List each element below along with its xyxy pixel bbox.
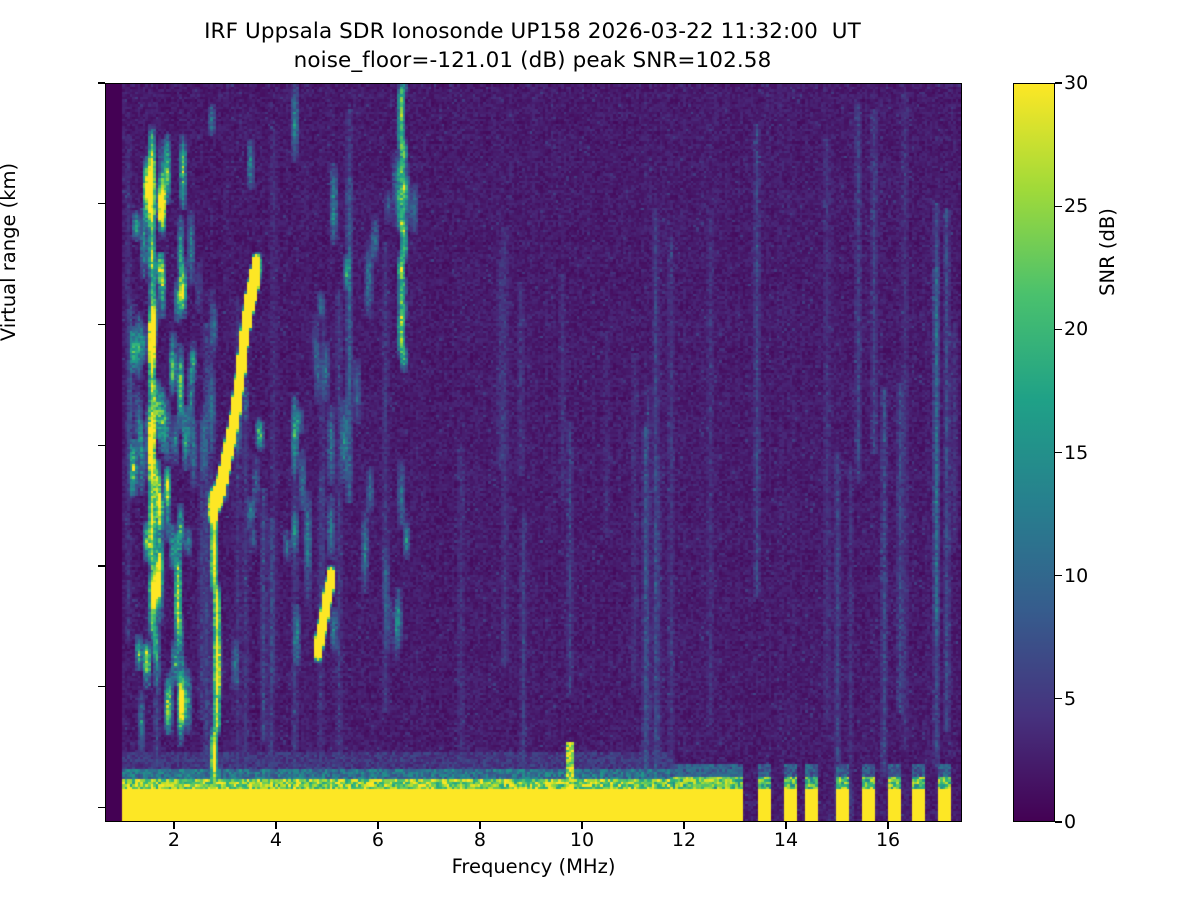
x-axis-tick-label: 6	[372, 829, 384, 851]
y-axis-tick-mark	[98, 807, 105, 808]
colorbar-label: SNR (dB)	[1096, 52, 1119, 452]
figure-title: IRF Uppsala SDR Ionosonde UP158 2026-03-…	[0, 18, 1065, 76]
x-axis-tick-label: 4	[270, 829, 282, 851]
y-axis-tick-mark	[98, 82, 105, 83]
x-axis-tick-label: 10	[570, 829, 594, 851]
colorbar-tick-label: 15	[1064, 442, 1088, 464]
ionogram-figure: IRF Uppsala SDR Ionosonde UP158 2026-03-…	[0, 0, 1200, 900]
y-axis-tick-mark	[98, 445, 105, 446]
x-axis-tick-mark	[683, 822, 684, 829]
colorbar-tick-mark	[1055, 82, 1062, 83]
colorbar-tick-label: 30	[1064, 72, 1088, 94]
snr-heatmap	[106, 84, 962, 822]
y-axis-tick-mark	[98, 324, 105, 325]
x-axis-tick-mark	[785, 822, 786, 829]
colorbar-tick-label: 10	[1064, 565, 1088, 587]
x-axis-tick-label: 2	[168, 829, 180, 851]
x-axis-tick-label: 12	[672, 829, 696, 851]
colorbar-tick-mark	[1055, 698, 1062, 699]
colorbar-gradient	[1014, 84, 1054, 821]
colorbar-tick-mark	[1055, 329, 1062, 330]
y-axis-label: Virtual range (km)	[0, 52, 20, 452]
x-axis-tick-mark	[377, 822, 378, 829]
colorbar-tick-label: 0	[1064, 811, 1076, 833]
x-axis-tick-label: 8	[474, 829, 486, 851]
x-axis-tick-mark	[173, 822, 174, 829]
x-axis-tick-mark	[887, 822, 888, 829]
colorbar-tick-label: 25	[1064, 195, 1088, 217]
colorbar-tick-mark	[1055, 575, 1062, 576]
colorbar-tick-label: 5	[1064, 688, 1076, 710]
title-line-primary: IRF Uppsala SDR Ionosonde UP158 2026-03-…	[0, 18, 1065, 47]
colorbar-tick-mark	[1055, 452, 1062, 453]
x-axis-label: Frequency (MHz)	[105, 855, 962, 878]
x-axis-tick-label: 14	[774, 829, 798, 851]
y-axis-tick-mark	[98, 686, 105, 687]
colorbar	[1013, 83, 1055, 822]
colorbar-tick-label: 20	[1064, 318, 1088, 340]
x-axis-tick-mark	[479, 822, 480, 829]
x-axis-tick-mark	[275, 822, 276, 829]
y-axis-tick-mark	[98, 203, 105, 204]
ionogram-plot-area	[105, 83, 962, 822]
x-axis-tick-mark	[581, 822, 582, 829]
colorbar-tick-mark	[1055, 206, 1062, 207]
colorbar-tick-mark	[1055, 821, 1062, 822]
y-axis-tick-mark	[98, 565, 105, 566]
x-axis-tick-label: 16	[876, 829, 900, 851]
title-line-secondary: noise_floor=-121.01 (dB) peak SNR=102.58	[0, 47, 1065, 76]
